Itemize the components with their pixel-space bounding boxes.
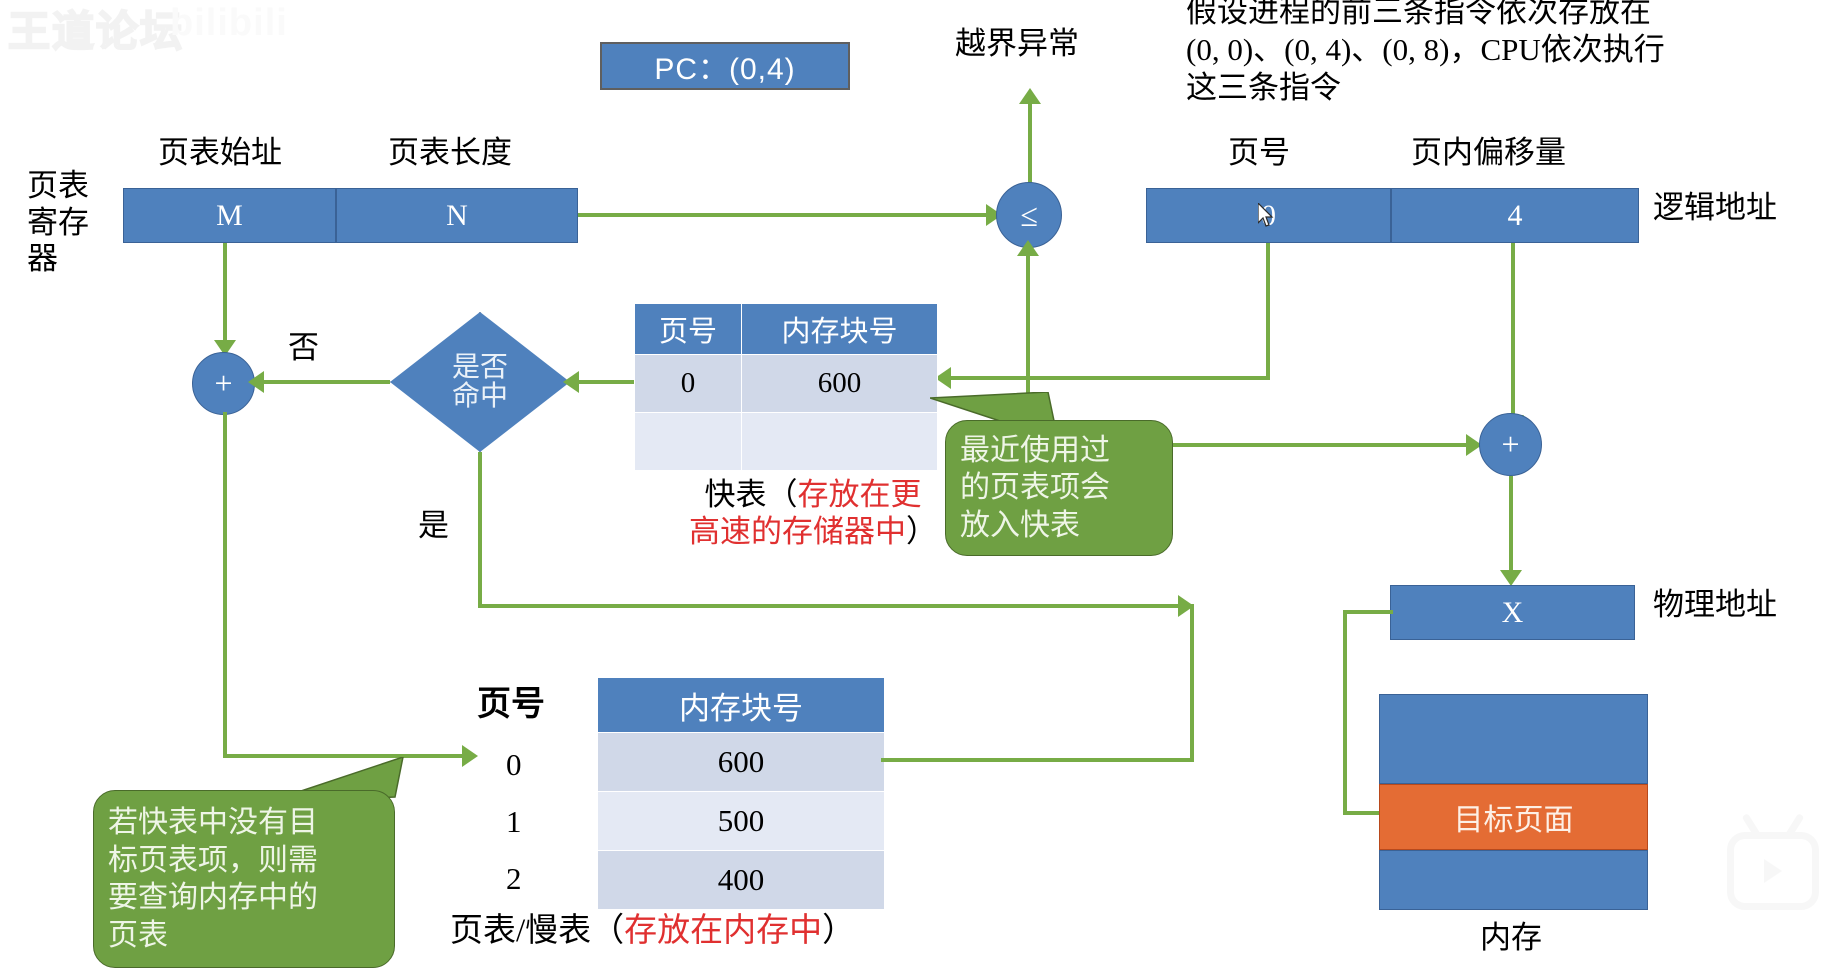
- bilibili-logo-icon: [1727, 832, 1819, 910]
- tlb-row: [635, 413, 938, 471]
- memory-block-lower: [1379, 850, 1648, 910]
- arrow-down-physical: [1500, 570, 1522, 586]
- memory-target-page: 目标页面: [1379, 784, 1648, 850]
- tlb-table: 页号 内存块号 0 600: [634, 303, 938, 471]
- connector-length-to-comparator: [578, 213, 986, 217]
- connector-tlbfill-to-adder: [1173, 443, 1493, 447]
- page-table-index-0: 0: [506, 747, 522, 784]
- note-line-1: 假设进程的前三条指令依次存放在: [1186, 0, 1651, 31]
- connector-physical-left: [1343, 610, 1393, 614]
- connector-base-to-adder: [223, 243, 227, 343]
- connector-pagetable-right: [881, 758, 1194, 762]
- mouse-cursor-icon: [1258, 203, 1274, 229]
- page-table-caption-red: 存放在内存中: [624, 913, 822, 949]
- page-table-length-header: 页表长度: [388, 135, 512, 172]
- tlb-cell-block: 600: [742, 355, 938, 413]
- page-table: 内存块号 600 500 400: [597, 677, 885, 910]
- page-table-index-2: 2: [506, 861, 522, 898]
- tlb-hit-decision: 是否 命中: [390, 312, 570, 452]
- page-table-block-header: 内存块号: [598, 678, 885, 733]
- connector-decision-to-adder: [255, 380, 390, 384]
- logical-offset-cell: 4: [1391, 188, 1639, 243]
- connector-pagenum-down: [1266, 243, 1270, 378]
- forum-watermark: 王道论坛: [8, 0, 184, 59]
- connector-tlb-to-decision: [570, 380, 634, 384]
- callout-tlb-fill: 最近使用过 的页表项会 放入快表: [945, 420, 1173, 556]
- page-table-block-2: 400: [598, 851, 885, 910]
- left-adder-circle: +: [192, 352, 255, 415]
- tlb-cell-page: 0: [635, 355, 742, 413]
- page-table-base-header: 页表始址: [158, 135, 282, 172]
- memory-block-upper: [1379, 694, 1648, 784]
- callout-tlb-miss: 若快表中没有目 标页表项，则需 要查询内存中的 页表: [93, 790, 395, 968]
- connector-pagenum-to-tlb: [950, 376, 1270, 380]
- tlb-caption: 快表（存放在更 高速的存储器中）: [663, 476, 963, 550]
- connector-decision-yes-down: [478, 452, 482, 608]
- connector-compare-to-exception: [1028, 103, 1032, 183]
- tlb-cell-page: [635, 413, 742, 471]
- note-line-3: 这三条指令: [1186, 70, 1341, 107]
- bilibili-watermark: bilibili: [170, 2, 288, 45]
- tlb-header-page: 页号: [635, 304, 742, 355]
- right-adder-circle: +: [1479, 413, 1542, 476]
- memory-caption: 内存: [1480, 920, 1542, 957]
- arrow-right-pagetable: [462, 745, 478, 767]
- page-table-index-1: 1: [506, 804, 522, 841]
- tlb-row: 0 600: [635, 355, 938, 413]
- logical-offset-header: 页内偏移量: [1411, 135, 1566, 172]
- logical-page-number-header: 页号: [1228, 135, 1290, 172]
- page-table-row: 600: [598, 733, 885, 792]
- branch-no-label: 否: [288, 330, 319, 367]
- arrow-left-adder: [248, 371, 264, 393]
- tlb-header-block: 内存块号: [742, 304, 938, 355]
- connector-adder-down: [223, 412, 227, 757]
- overflow-exception-label: 越界异常: [955, 26, 1079, 63]
- arrow-up-exception: [1019, 88, 1041, 104]
- page-table-caption: 页表/慢表（存放在内存中）: [450, 912, 855, 952]
- pc-register-box: PC：(0,4): [600, 42, 850, 90]
- page-table-index-header: 页号: [477, 685, 545, 725]
- connector-adder-to-physical: [1509, 476, 1513, 576]
- address-translation-diagram: 王道论坛 bilibili 假设进程的前三条指令依次存放在 (0, 0)、(0,…: [0, 0, 1841, 970]
- connector-comparator-stem: [1026, 252, 1030, 362]
- page-table-row: 500: [598, 792, 885, 851]
- tlb-cell-block: [742, 413, 938, 471]
- page-table-block-0: 600: [598, 733, 885, 792]
- page-table-block-1: 500: [598, 792, 885, 851]
- page-table-header-row: 内存块号: [598, 678, 885, 733]
- physical-address-side-label: 物理地址: [1653, 587, 1777, 624]
- branch-yes-label: 是: [418, 508, 449, 545]
- page-table-register-side-label: 页表 寄存 器: [27, 168, 89, 278]
- tlb-caption-tail: ）: [906, 514, 937, 549]
- page-table-base-cell: M: [123, 188, 336, 243]
- page-table-row: 400: [598, 851, 885, 910]
- page-table-caption-tail: ）: [822, 913, 855, 949]
- note-line-2: (0, 0)、(0, 4)、(0, 8)，CPU依次执行: [1186, 32, 1665, 69]
- page-table-caption-black: 页表/慢表（: [450, 913, 624, 949]
- tlb-caption-black: 快表（: [705, 477, 798, 512]
- connector-physical-down: [1343, 610, 1347, 815]
- arrow-left-decision: [563, 371, 579, 393]
- comparator-circle: ≤: [996, 182, 1062, 248]
- connector-pagetable-up: [1190, 604, 1194, 760]
- decision-label: 是否 命中: [390, 312, 570, 452]
- connector-yes-right: [478, 604, 1186, 608]
- physical-address-box: X: [1390, 585, 1635, 640]
- connector-offset-down: [1511, 243, 1515, 418]
- page-table-length-cell: N: [336, 188, 578, 243]
- logical-address-side-label: 逻辑地址: [1653, 190, 1777, 227]
- tlb-header-row: 页号 内存块号: [635, 304, 938, 355]
